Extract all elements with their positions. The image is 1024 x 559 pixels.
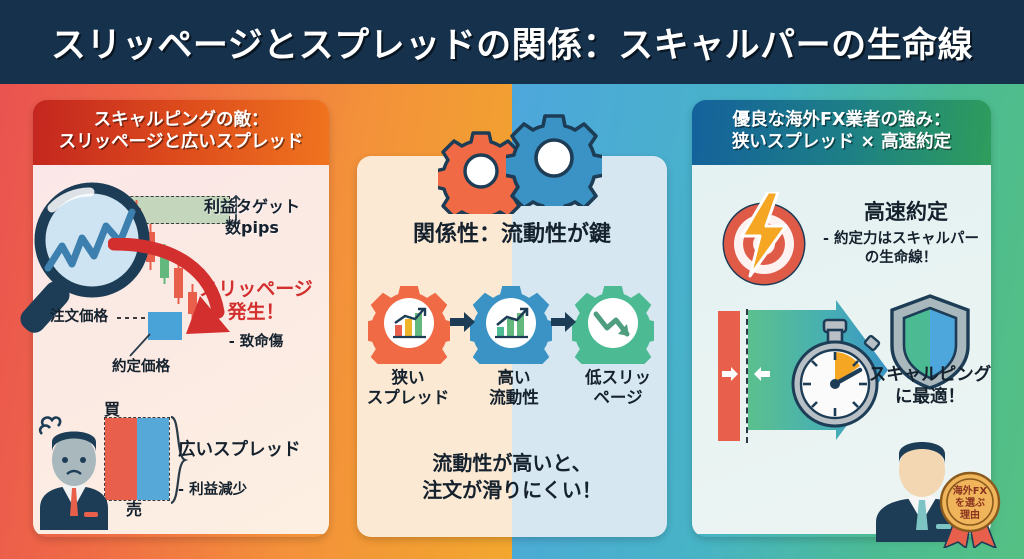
fast-execution-sub: - 約定力はスキャルパー の生命線！ [812, 230, 990, 268]
footer-line2: 注文が滑りにくい！ [357, 477, 667, 504]
step2-line2: 流動性 [466, 388, 562, 408]
fill-price-label: 約定価格 [112, 355, 170, 376]
wide-spread-sub-label: - 利益減少 [178, 478, 318, 499]
step-gear-high-liquidity-icon [470, 282, 552, 364]
badge-line1: 海外FX [953, 484, 988, 497]
fast-execution-title: 高速約定 [826, 196, 986, 226]
right-header-line2: 狭いスプレッド × 高速約定 [700, 131, 983, 153]
arrow-right-small-icon [722, 366, 738, 382]
title-bar: スリッページとスプレッドの関係：スキャルパーの生命線 [0, 0, 1024, 84]
right-panel-header: 優良な海外FX業者の強み： 狭いスプレッド × 高速約定 [692, 100, 991, 165]
reason-badge-icon: 海外FX を選ぶ 理由 [936, 470, 1006, 548]
spread-divider-dash [746, 309, 748, 443]
step3-line2: ページ [566, 388, 670, 408]
slippage-occurrence-label: スリッページ 発生！ [196, 278, 316, 324]
scalping-best-label: スキャルピング に最適！ [860, 365, 1000, 409]
footer-line1: 流動性が高いと、 [357, 450, 667, 477]
slippage-sub-label: - 致命傷 [196, 330, 316, 351]
profit-target-label: 利益タゲット 数pips [192, 196, 312, 238]
target-bolt-icon [716, 192, 812, 288]
step1-line2: スプレッド [356, 388, 460, 408]
scalp-line2: に最適！ [860, 387, 1000, 409]
left-header-line2: スリッページと広いスプレッド [41, 131, 321, 153]
badge-line3: 理由 [960, 508, 980, 521]
slippage-line2: 発生！ [196, 301, 316, 324]
sell-label: 売 [126, 496, 142, 520]
step3-line1: 低スリッ [566, 368, 670, 388]
profit-target-line2: 数pips [192, 217, 312, 238]
slippage-line1: スリッページ [196, 278, 316, 301]
arrow-left-small-icon [754, 366, 770, 382]
left-header-line1: スキャルピングの敵： [41, 109, 321, 131]
step-gear-narrow-spread-icon [368, 282, 450, 364]
fast-exec-sub-line1: - 約定力はスキャルパー [812, 230, 990, 249]
right-header-line1: 優良な海外FX業者の強み： [700, 109, 983, 131]
step-label-narrow-spread: 狭い スプレッド [356, 368, 460, 408]
wide-spread-label: 広いスプレッド [178, 440, 318, 462]
middle-panel-title: 関係性：流動性が鍵 [357, 216, 667, 248]
gear-icon-teal-large [506, 110, 602, 206]
step-gear-low-slippage-icon [572, 282, 654, 364]
step-arrow-1-icon [450, 310, 476, 334]
step-arrow-2-icon [551, 310, 577, 334]
worried-trader-icon [34, 412, 120, 530]
infographic-canvas: スリッページとスプレッドの関係：スキャルパーの生命線 スキャルピングの敵： スリ… [0, 0, 1024, 559]
profit-target-line1: 利益タゲット [192, 196, 312, 217]
order-price-label: 注文価格 [50, 305, 108, 326]
badge-line2: を選ぶ [955, 496, 985, 509]
step1-line1: 狭い [356, 368, 460, 388]
left-panel-header: スキャルピングの敵： スリッページと広いスプレッド [33, 100, 329, 165]
scalp-line1: スキャルピング [860, 365, 1000, 387]
middle-panel-footer: 流動性が高いと、 注文が滑りにくい！ [357, 450, 667, 504]
step-label-low-slippage: 低スリッ ページ [566, 368, 670, 408]
step2-line1: 高い [466, 368, 562, 388]
step-label-high-liquidity: 高い 流動性 [466, 368, 562, 408]
fast-exec-sub-line2: の生命線！ [812, 249, 990, 268]
page-title: スリッページとスプレッドの関係：スキャルパーの生命線 [0, 0, 1024, 84]
